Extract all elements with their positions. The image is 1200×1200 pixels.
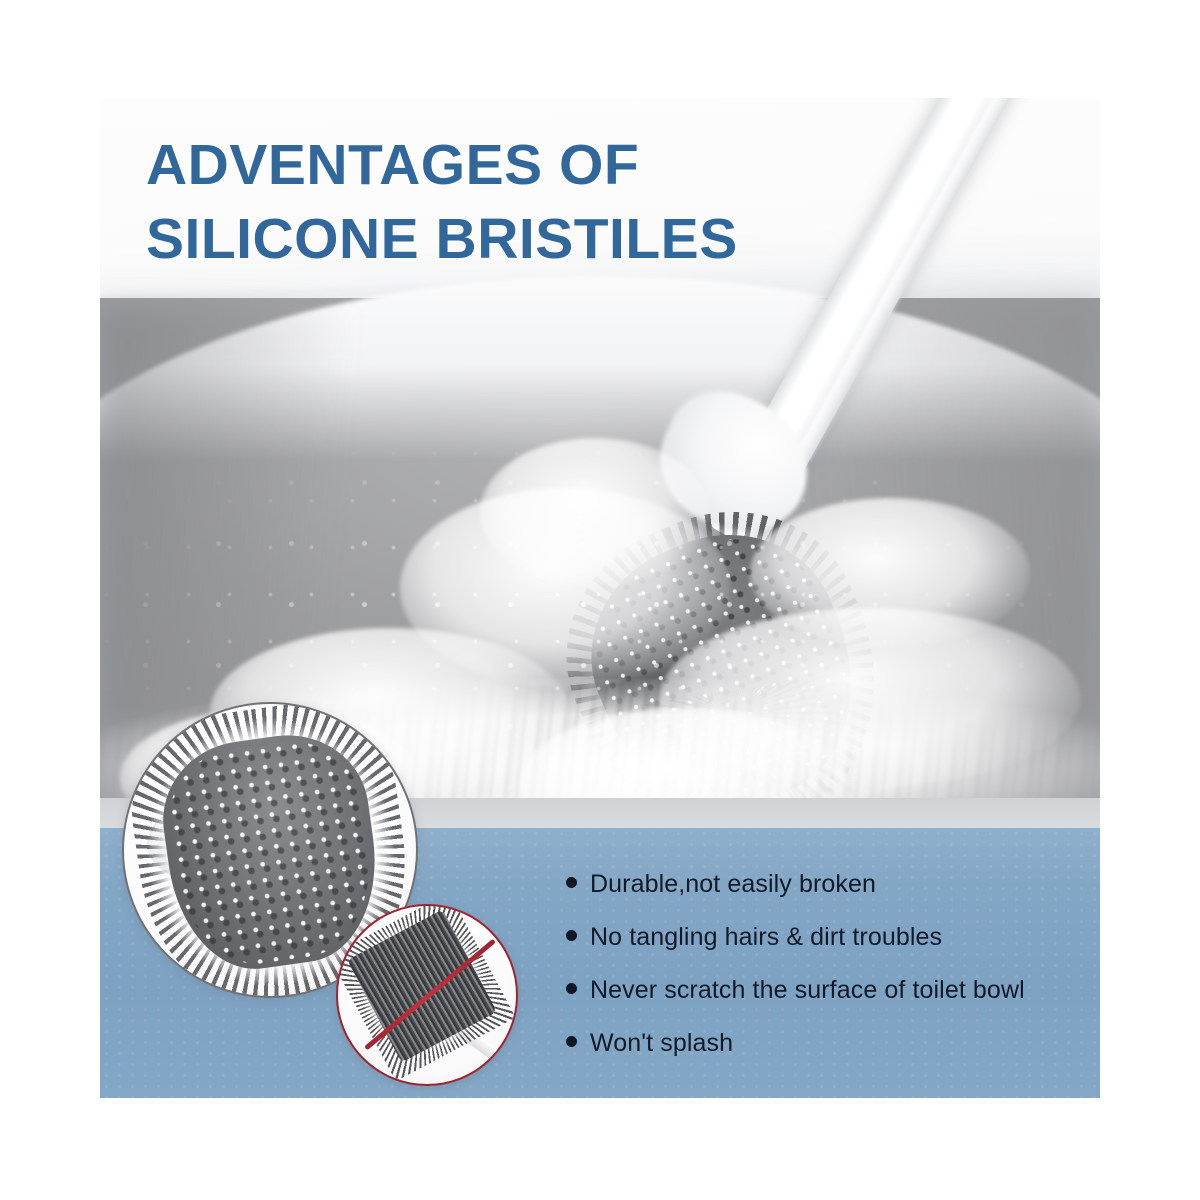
bullet-dot-icon [566, 983, 577, 994]
page-title-line-2: SILICONE BRISTILES [146, 202, 926, 276]
page-title-line-1: ADVENTAGES OF [146, 128, 926, 202]
feature-label: Durable,not easily broken [590, 868, 876, 900]
bullet-dot-icon [566, 930, 577, 941]
product-infographic-page: ADVENTAGES OF SILICONE BRISTILES Durable… [0, 0, 1200, 1200]
feature-label: Won't splash [590, 1027, 733, 1059]
feature-label: No tangling hairs & dirt troubles [590, 921, 942, 953]
bullet-dot-icon [566, 877, 577, 888]
list-item: Won't splash [566, 1027, 1086, 1059]
list-item: Durable,not easily broken [566, 868, 1086, 900]
page-title: ADVENTAGES OF SILICONE BRISTILES [146, 128, 926, 276]
nylon-brush-prohibited-inset [336, 904, 518, 1086]
bowl-shadow-left [100, 308, 400, 728]
list-item: Never scratch the surface of toilet bowl [566, 974, 1086, 1006]
feature-label: Never scratch the surface of toilet bowl [590, 974, 1025, 1006]
feature-list: Durable,not easily broken No tangling ha… [566, 868, 1086, 1080]
list-item: No tangling hairs & dirt troubles [566, 921, 1086, 953]
bullet-dot-icon [566, 1036, 577, 1047]
product-photo-panel: ADVENTAGES OF SILICONE BRISTILES Durable… [100, 98, 1100, 1098]
nylon-brush-head [347, 909, 497, 1062]
